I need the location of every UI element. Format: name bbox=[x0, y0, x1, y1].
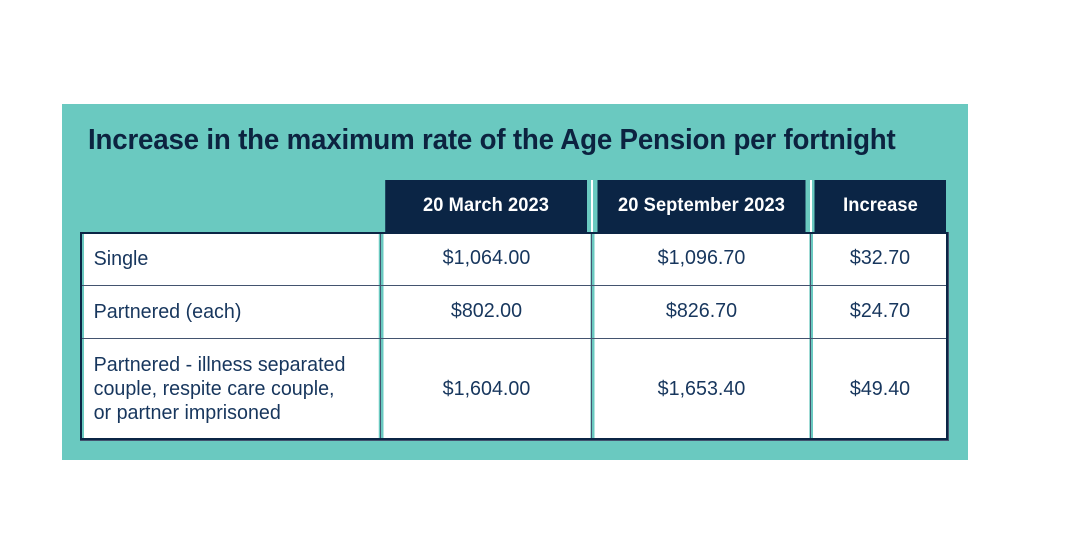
age-pension-rate-table: 20 March 2023 20 September 2023 Increase… bbox=[80, 180, 949, 441]
infographic-root: Increase in the maximum rate of the Age … bbox=[0, 0, 1072, 536]
cell-partnered-illness-march: $1,604.00 bbox=[382, 338, 590, 440]
cell-partnered-each-march: $802.00 bbox=[382, 285, 590, 338]
table-header-cell-increase: Increase bbox=[813, 180, 945, 232]
teal-panel: Increase in the maximum rate of the Age … bbox=[62, 104, 968, 460]
cell-single-increase: $32.70 bbox=[812, 232, 948, 285]
cell-partnered-each-september: $826.70 bbox=[593, 285, 809, 338]
table-header-cell-march: 20 March 2023 bbox=[385, 180, 588, 232]
row-label-single: Single bbox=[83, 232, 379, 285]
row-label-line: Single bbox=[93, 247, 378, 271]
page-title: Increase in the maximum rate of the Age … bbox=[88, 120, 909, 160]
cell-partnered-illness-increase: $49.40 bbox=[812, 338, 948, 440]
cell-partnered-illness-september: $1,653.40 bbox=[593, 338, 809, 440]
cell-single-september: $1,096.70 bbox=[593, 232, 809, 285]
table-header: 20 March 2023 20 September 2023 Increase bbox=[81, 180, 949, 232]
table-header-cell-blank bbox=[87, 180, 375, 232]
table-body: Single $1,064.00 $1,096.70 $32.70 Partne… bbox=[81, 232, 949, 440]
row-label-partnered-each: Partnered (each) bbox=[83, 285, 379, 338]
cell-partnered-each-increase: $24.70 bbox=[812, 285, 948, 338]
row-label-line: couple, respite care couple, bbox=[93, 377, 378, 401]
table-header-row: 20 March 2023 20 September 2023 Increase bbox=[81, 180, 949, 232]
row-label-line: or partner imprisoned bbox=[93, 401, 378, 425]
row-label-line: Partnered - illness separated bbox=[93, 353, 378, 377]
table-header-cell-september: 20 September 2023 bbox=[596, 180, 806, 232]
table-row: Partnered (each) $802.00 $826.70 $24.70 bbox=[81, 285, 949, 338]
table-row: Partnered - illness separated couple, re… bbox=[81, 338, 949, 440]
cell-single-march: $1,064.00 bbox=[382, 232, 590, 285]
row-label-line: Partnered (each) bbox=[93, 300, 378, 324]
row-label-partnered-illness-separated: Partnered - illness separated couple, re… bbox=[83, 338, 379, 440]
rate-table-wrapper: 20 March 2023 20 September 2023 Increase… bbox=[80, 180, 948, 440]
table-row: Single $1,064.00 $1,096.70 $32.70 bbox=[81, 232, 949, 285]
